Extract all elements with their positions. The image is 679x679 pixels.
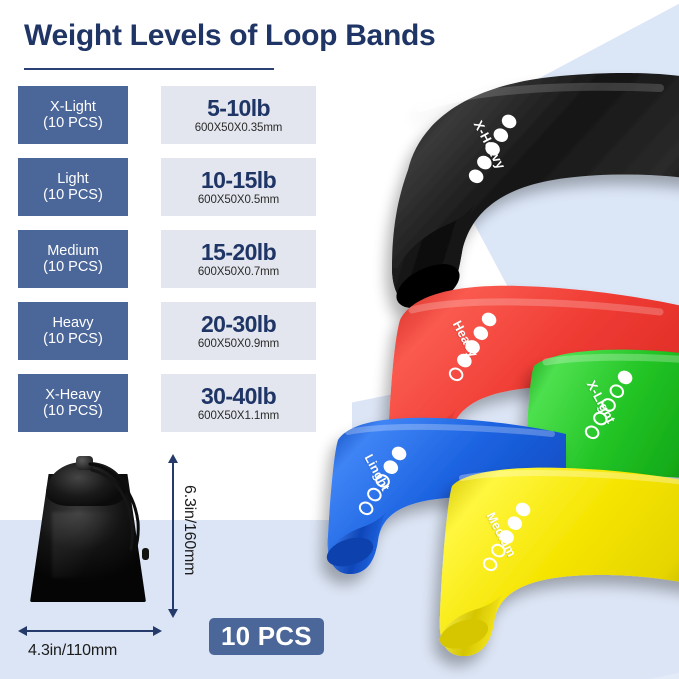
product-infographic: Weight Levels of Loop Bands X-Light (10 … — [0, 0, 679, 679]
resistance-bands-photo: X-Heavy Heavy X-Light Linght — [0, 0, 679, 679]
band-medium — [436, 468, 679, 656]
band-x-heavy — [390, 73, 679, 317]
bands-illustration — [0, 0, 679, 679]
